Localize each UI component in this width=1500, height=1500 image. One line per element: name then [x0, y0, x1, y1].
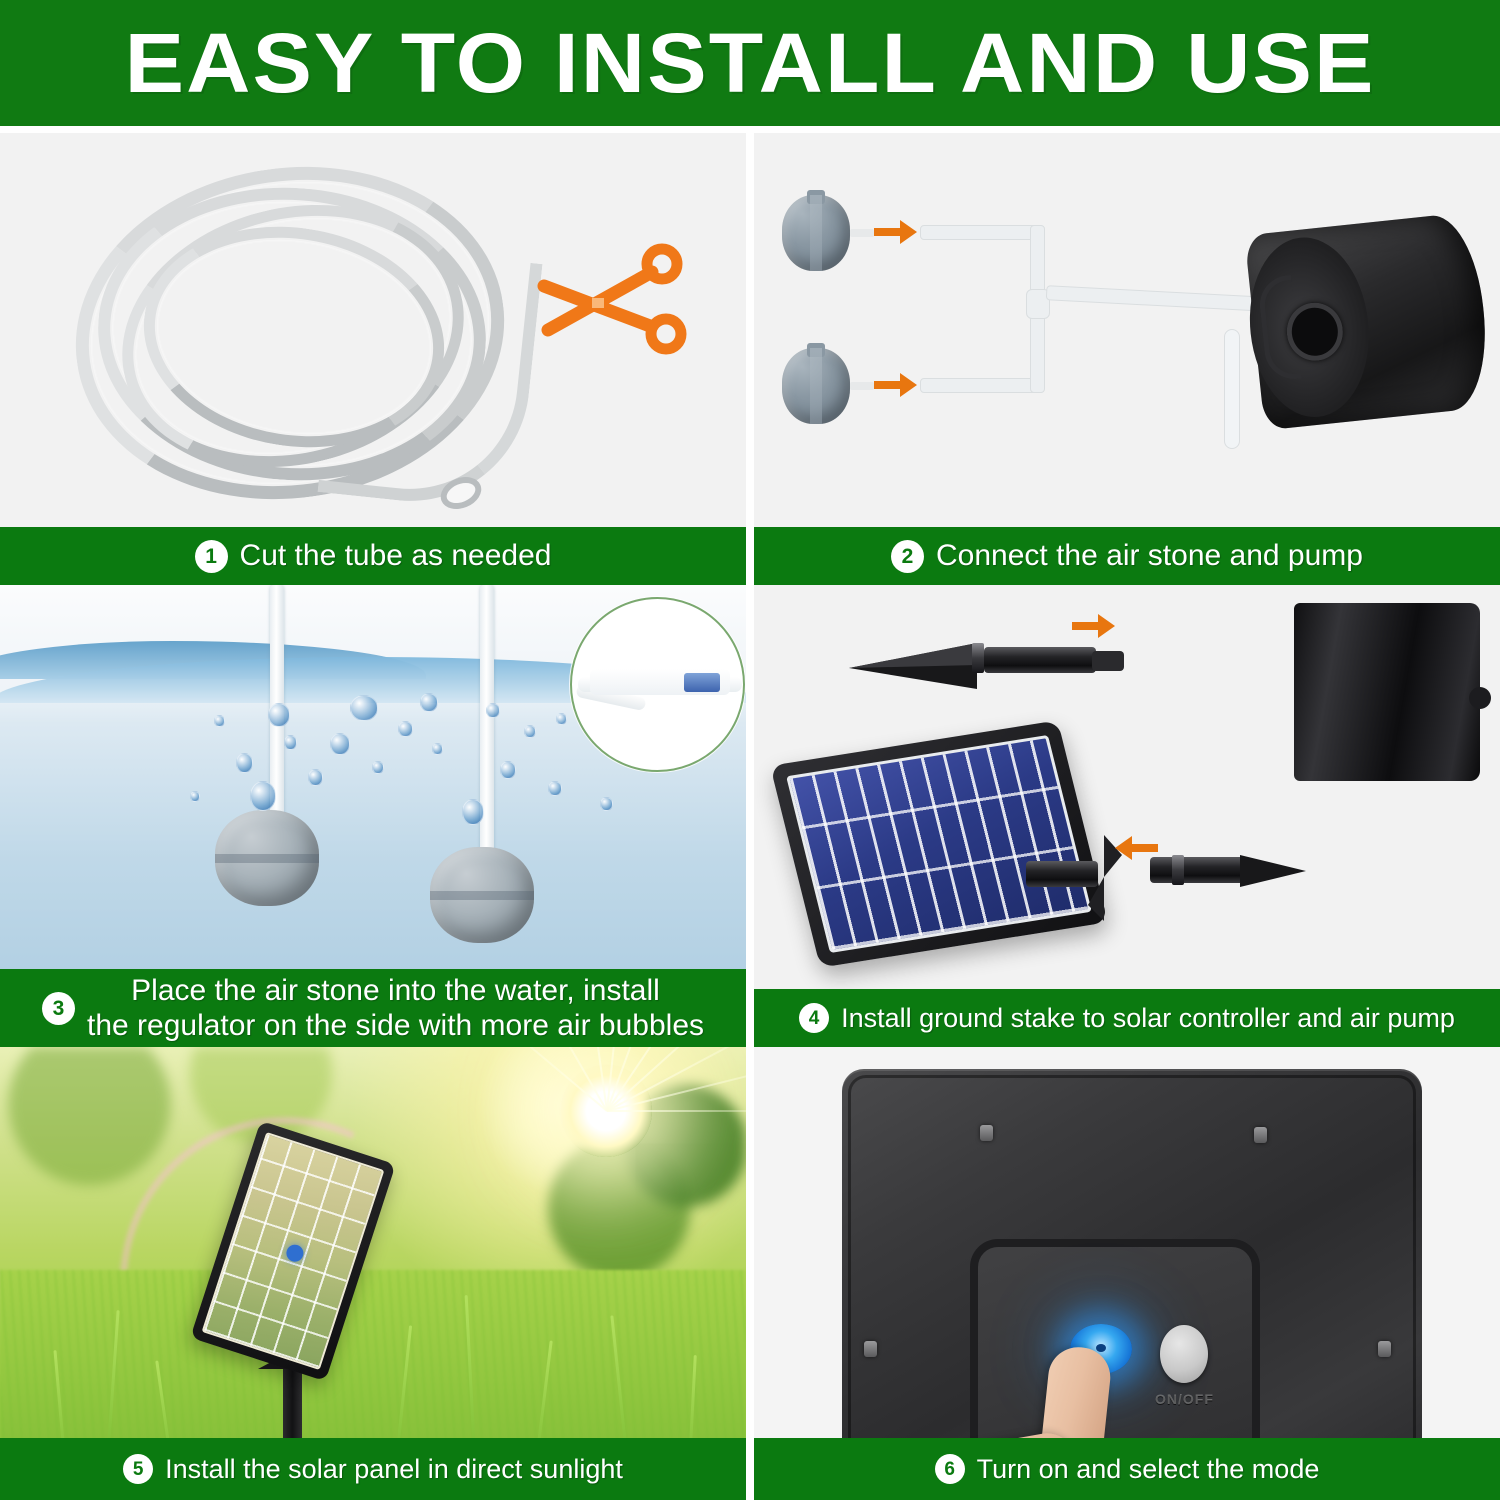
air-bubble [350, 695, 378, 721]
screw-icon [1378, 1341, 1391, 1357]
air-bubble [556, 713, 567, 725]
air-bubble [420, 693, 438, 712]
step-4-caption-bar: 4 Install ground stake to solar controll… [754, 989, 1500, 1047]
step-number-badge: 6 [935, 1454, 965, 1484]
page-title: EASY TO INSTALL AND USE [125, 15, 1376, 112]
air-bubble [500, 761, 516, 779]
on-off-label: ON/OFF [1155, 1391, 1214, 1407]
air-bubble [268, 703, 290, 727]
air-bubble [190, 791, 200, 802]
air-bubble [330, 733, 350, 755]
air-stone-submerged [215, 810, 319, 906]
stake-tip-socket [1092, 651, 1124, 671]
step-caption-text: Connect the air stone and pump [936, 539, 1363, 573]
step-number-badge: 4 [799, 1003, 829, 1033]
step-6-caption-bar: 6 Turn on and select the mode [754, 1438, 1500, 1500]
header-banner: EASY TO INSTALL AND USE [0, 0, 1500, 126]
air-bubble [524, 725, 536, 738]
pump-inlet-tube [1224, 329, 1240, 449]
air-bubble [462, 799, 484, 825]
regulator-detail-inset [570, 597, 745, 772]
step-caption-text: Install ground stake to solar controller… [841, 1003, 1455, 1034]
step-number-badge: 3 [42, 992, 75, 1025]
air-pump [1244, 212, 1493, 431]
air-bubble [486, 703, 500, 718]
air-bubble [250, 781, 276, 811]
pump-end-face [1241, 232, 1377, 423]
air-bubble [432, 743, 443, 755]
screw-icon [1254, 1127, 1267, 1143]
air-bubble [284, 735, 297, 750]
step-4-image [754, 585, 1500, 1047]
pump-cable-hook [1257, 275, 1302, 382]
air-bubble [548, 781, 562, 796]
led-core [1096, 1344, 1106, 1352]
air-bubble [236, 753, 253, 773]
step-card-1: 1 Cut the tube as needed [0, 133, 746, 585]
step-caption-text: Place the air stone into the water, inst… [87, 973, 704, 1044]
step-5-caption-bar: 5 Install the solar panel in direct sunl… [0, 1438, 746, 1500]
air-bubble [308, 769, 323, 786]
air-pump-cylinder [1294, 603, 1480, 781]
air-bubble [600, 797, 613, 811]
air-stone-nozzle [850, 229, 874, 237]
screw-icon [980, 1125, 993, 1141]
step-caption-text: Install the solar panel in direct sunlig… [165, 1454, 623, 1485]
stake-rod [984, 647, 1096, 673]
direction-arrow-icon [1072, 611, 1116, 641]
step-card-4: 4 Install ground stake to solar controll… [754, 585, 1500, 1047]
step-card-6: ON/OFF 6 Turn on and select the mode [754, 1047, 1500, 1500]
stake-collar [972, 643, 984, 673]
stake-collar [1172, 855, 1184, 885]
air-tube [1030, 313, 1045, 393]
step-card-5: 5 Install the solar panel in direct sunl… [0, 1047, 746, 1500]
air-tube [920, 378, 1044, 393]
step-caption-text: Cut the tube as needed [240, 539, 552, 573]
infographic-sheet: EASY TO INSTALL AND USE [0, 0, 1500, 1500]
step-1-image [0, 133, 746, 585]
step-6-image: ON/OFF [754, 1047, 1500, 1500]
stake-point-icon [1240, 853, 1308, 889]
stake-rod [1150, 857, 1246, 883]
step-3-caption-bar: 3 Place the air stone into the water, in… [0, 969, 746, 1047]
direction-arrow-icon [874, 217, 918, 247]
mode-button[interactable] [1160, 1325, 1208, 1383]
air-stone [782, 348, 850, 424]
step-number-badge: 5 [123, 1454, 153, 1484]
pump-mount-lug [1469, 687, 1491, 709]
air-bubble [372, 761, 384, 774]
air-bubble [214, 715, 225, 727]
air-hose [270, 585, 284, 815]
air-stone-submerged [430, 847, 534, 943]
step-1-caption-bar: 1 Cut the tube as needed [0, 527, 746, 585]
step-2-image [754, 133, 1500, 585]
scissors-icon [532, 238, 692, 358]
step-2-caption-bar: 2 Connect the air stone and pump [754, 527, 1500, 585]
air-stone [782, 195, 850, 271]
air-stone-nozzle [850, 382, 874, 390]
screw-icon [864, 1341, 877, 1357]
step-5-image [0, 1047, 746, 1500]
step-number-badge: 1 [195, 540, 228, 573]
controller-back-housing: ON/OFF [842, 1069, 1422, 1489]
step-caption-text: Turn on and select the mode [977, 1454, 1320, 1485]
caption-line-2: the regulator on the side with more air … [87, 1009, 704, 1042]
solar-panel [770, 720, 1108, 967]
step-card-2: 2 Connect the air stone and pump [754, 133, 1500, 585]
air-tube [1046, 285, 1268, 312]
tube-free-end [317, 243, 542, 513]
regulator-slider [684, 673, 720, 692]
air-tube [920, 225, 1044, 240]
step-card-3: 3 Place the air stone into the water, in… [0, 585, 746, 1047]
caption-line-1: Place the air stone into the water, inst… [131, 974, 660, 1007]
air-bubble [398, 721, 413, 737]
steps-grid: 1 Cut the tube as needed [0, 133, 1500, 1500]
step-number-badge: 2 [891, 540, 924, 573]
solar-cells [786, 735, 1092, 953]
direction-arrow-icon [874, 370, 918, 400]
